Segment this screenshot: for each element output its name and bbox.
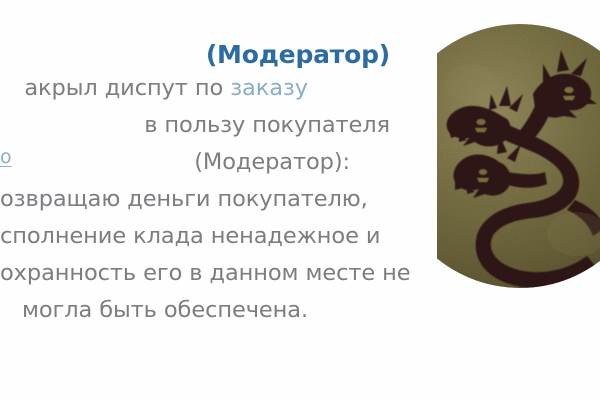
clipped-user-link[interactable]: о: [0, 146, 12, 168]
post-text: (Модератор) акрыл диспут по заказу в пол…: [0, 40, 400, 329]
post-line-2: в пользу покупателя: [0, 107, 400, 144]
post-line-3: (Модератор):: [0, 144, 400, 181]
post-line-7: могла быть обеспечена.: [0, 292, 400, 329]
moderator-heading: (Модератор): [0, 40, 400, 70]
post-line-5: сполнение клада ненадежное и: [0, 218, 400, 255]
post-screenshot: (Модератор) акрыл диспут по заказу в пол…: [0, 0, 600, 400]
avatar[interactable]: [437, 24, 600, 288]
order-link[interactable]: заказу: [230, 75, 308, 101]
post-line-4: озвращаю деньги покупателю,: [0, 181, 400, 218]
avatar-image: [437, 24, 600, 288]
post-line-1: акрыл диспут по заказу: [0, 70, 400, 107]
post-line-6: охранность его в данном месте не: [0, 255, 400, 292]
post-line-1-text: акрыл диспут по: [24, 75, 230, 101]
